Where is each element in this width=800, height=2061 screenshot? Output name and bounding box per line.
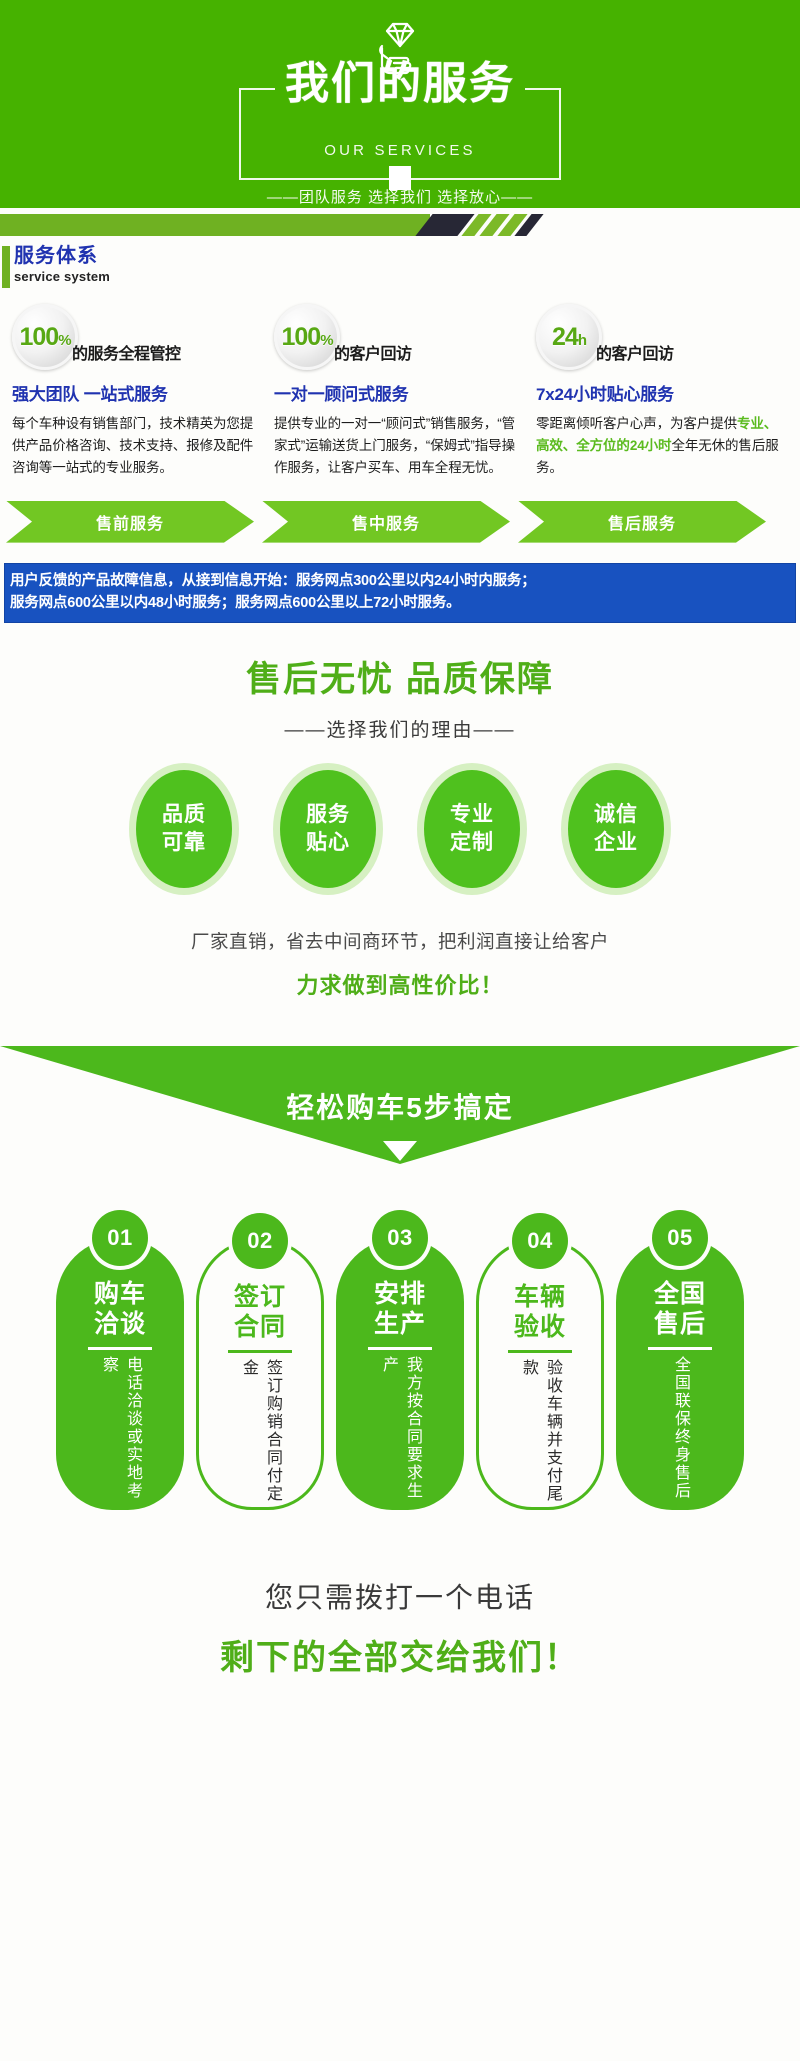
feature-badge-row: 24h 的客户回访 bbox=[536, 300, 784, 374]
badge-label: 的服务全程管控 bbox=[72, 340, 181, 374]
feature-body: 零距离倾听客户心声，为客户提供专业、高效、全方位的24小时全年无休的售后服务。 bbox=[536, 413, 784, 479]
five-steps-chevron-banner: 轻松购车5步搞定 bbox=[0, 1046, 800, 1192]
feature-badge-row: 100% 的客户回访 bbox=[274, 300, 522, 374]
section-title-en: service system bbox=[14, 269, 800, 284]
step-divider bbox=[228, 1350, 292, 1353]
footer-call-to-action: 您只需拨打一个电话 剩下的全部交给我们！ bbox=[0, 1576, 800, 1679]
oval-line-1: 品质 bbox=[162, 801, 206, 829]
arrow-chip-during-sales[interactable]: 售中服务 bbox=[262, 501, 510, 543]
footer-line-1: 您只需拨打一个电话 bbox=[0, 1576, 800, 1616]
step-number-badge: 04 bbox=[512, 1213, 568, 1269]
badge-number: 100% bbox=[281, 325, 332, 350]
oval-line-1: 诚信 bbox=[594, 801, 638, 829]
step-item-05[interactable]: 05 全国 售后 全国联保终身售后 bbox=[616, 1210, 744, 1510]
footer-line-2: 剩下的全部交给我们！ bbox=[0, 1630, 800, 1679]
step-item-01[interactable]: 01 购车 洽谈 电话洽谈或实地考察 bbox=[56, 1210, 184, 1510]
step-title: 签订 合同 bbox=[234, 1283, 286, 1342]
feature-column-2: 100% 的客户回访 一对一顾问式服务 提供专业的一对一“顾问式”销售服务，“管… bbox=[270, 300, 526, 479]
step-divider bbox=[648, 1347, 712, 1350]
section-header-service-system: 服务体系 service system bbox=[0, 236, 800, 294]
purchase-steps: 01 购车 洽谈 电话洽谈或实地考察 02 签订 合同 签订购销合同付定金 03… bbox=[0, 1210, 800, 1510]
step-title: 车辆 验收 bbox=[514, 1283, 566, 1342]
service-stage-arrows: 售前服务 售中服务 售后服务 bbox=[0, 479, 800, 543]
step-pill: 04 车辆 验收 验收车辆并支付尾款 bbox=[476, 1238, 604, 1510]
step-number-badge: 02 bbox=[232, 1213, 288, 1269]
reasons-header: 售后无忧 品质保障 ——选择我们的理由—— bbox=[0, 661, 800, 743]
step-number-badge: 03 bbox=[372, 1210, 428, 1266]
reason-oval-integrity: 诚信 企业 bbox=[568, 770, 664, 888]
divider-green-bar bbox=[0, 214, 430, 236]
oval-line-2: 贴心 bbox=[306, 829, 350, 857]
step-description: 电话洽谈或实地考察 bbox=[96, 1356, 144, 1506]
banner-line-2: 服务网点600公里以内48小时服务；服务网点600公里以上72小时服务。 bbox=[10, 592, 790, 614]
triangle-down-icon bbox=[383, 1141, 417, 1161]
feature-body: 每个车种设有销售部门，技术精英为您提供产品价格咨询、技术支持、报修及配件咨询等一… bbox=[12, 413, 260, 479]
reason-oval-quality: 品质 可靠 bbox=[136, 770, 232, 888]
service-landing-page: 我们的服务 OUR SERVICES ——团队服务 选择我们 选择放心—— 服务… bbox=[0, 0, 800, 2061]
feature-columns: 100% 的服务全程管控 强大团队 一站式服务 每个车种设有销售部门，技术精英为… bbox=[0, 294, 800, 479]
percent-badge-icon: 100% bbox=[12, 304, 78, 370]
reasons-subtitle: ——选择我们的理由—— bbox=[0, 715, 800, 742]
oval-line-2: 企业 bbox=[594, 829, 638, 857]
step-pill: 03 安排 生产 我方按合同要求生产 bbox=[336, 1238, 464, 1510]
badge-label: 的客户回访 bbox=[334, 340, 412, 374]
step-description: 我方按合同要求生产 bbox=[376, 1356, 424, 1506]
section-title-cn: 服务体系 bbox=[14, 244, 800, 268]
reason-ovals: 品质 可靠 服务 贴心 专业 定制 诚信 企业 bbox=[0, 770, 800, 888]
arrow-chip-pre-sales[interactable]: 售前服务 bbox=[6, 501, 254, 543]
badge-label: 的客户回访 bbox=[596, 340, 674, 374]
step-divider bbox=[508, 1350, 572, 1353]
oval-line-1: 服务 bbox=[306, 801, 350, 829]
feature-title: 强大团队 一站式服务 bbox=[12, 380, 260, 405]
step-item-03[interactable]: 03 安排 生产 我方按合同要求生产 bbox=[336, 1210, 464, 1510]
banner-line-1: 用户反馈的产品故障信息，从接到信息开始：服务网点300公里以内24小时内服务； bbox=[10, 570, 790, 592]
badge-number: 24h bbox=[552, 325, 586, 350]
hero-subtitle-english: OUR SERVICES bbox=[0, 142, 800, 159]
feature-column-1: 100% 的服务全程管控 强大团队 一站式服务 每个车种设有销售部门，技术精英为… bbox=[8, 300, 264, 479]
percent-badge-icon: 100% bbox=[274, 304, 340, 370]
feature-badge-row: 100% 的服务全程管控 bbox=[12, 300, 260, 374]
feature-column-3: 24h 的客户回访 7x24小时贴心服务 零距离倾听客户心声，为客户提供专业、高… bbox=[532, 300, 788, 479]
hero-title: 我们的服务 bbox=[0, 62, 800, 106]
response-time-banner: 用户反馈的产品故障信息，从接到信息开始：服务网点300公里以内24小时内服务； … bbox=[4, 563, 796, 623]
step-number-badge: 05 bbox=[652, 1210, 708, 1266]
feature-body: 提供专业的一对一“顾问式”销售服务，“管家式”运输送货上门服务，“保姆式”指导操… bbox=[274, 413, 522, 479]
arrow-chip-after-sales[interactable]: 售后服务 bbox=[518, 501, 766, 543]
step-divider bbox=[88, 1347, 152, 1350]
chevron-title: 轻松购车5步搞定 bbox=[0, 1086, 800, 1126]
hero-tagline: ——团队服务 选择我们 选择放心—— bbox=[0, 186, 800, 207]
oval-line-2: 定制 bbox=[450, 829, 494, 857]
step-description: 全国联保终身售后 bbox=[668, 1356, 692, 1506]
oval-line-2: 可靠 bbox=[162, 829, 206, 857]
step-title: 安排 生产 bbox=[374, 1280, 426, 1339]
step-title: 全国 售后 bbox=[654, 1280, 706, 1339]
step-item-02[interactable]: 02 签订 合同 签订购销合同付定金 bbox=[196, 1210, 324, 1510]
step-pill: 05 全国 售后 全国联保终身售后 bbox=[616, 1238, 744, 1510]
promo-block: 厂家直销，省去中间商环节，把利润直接让给客户 力求做到高性价比！ bbox=[0, 928, 800, 1000]
promo-line-1: 厂家直销，省去中间商环节，把利润直接让给客户 bbox=[0, 928, 800, 954]
feature-title: 一对一顾问式服务 bbox=[274, 380, 522, 405]
step-number-badge: 01 bbox=[92, 1210, 148, 1266]
step-description: 验收车辆并支付尾款 bbox=[516, 1359, 564, 1507]
section-accent-bar bbox=[2, 246, 10, 288]
badge-number: 100% bbox=[19, 325, 70, 350]
oval-line-1: 专业 bbox=[450, 801, 494, 829]
hero-banner: 我们的服务 OUR SERVICES ——团队服务 选择我们 选择放心—— bbox=[0, 0, 800, 208]
reason-oval-service: 服务 贴心 bbox=[280, 770, 376, 888]
diagonal-stripe-divider bbox=[0, 208, 800, 236]
reasons-title: 售后无忧 品质保障 bbox=[0, 661, 800, 700]
feature-title: 7x24小时贴心服务 bbox=[536, 380, 784, 405]
step-description: 签订购销合同付定金 bbox=[236, 1359, 284, 1507]
step-pill: 01 购车 洽谈 电话洽谈或实地考察 bbox=[56, 1238, 184, 1510]
step-divider bbox=[368, 1347, 432, 1350]
step-title: 购车 洽谈 bbox=[94, 1280, 146, 1339]
promo-line-2: 力求做到高性价比！ bbox=[0, 968, 800, 1000]
step-item-04[interactable]: 04 车辆 验收 验收车辆并支付尾款 bbox=[476, 1210, 604, 1510]
reason-oval-custom: 专业 定制 bbox=[424, 770, 520, 888]
step-pill: 02 签订 合同 签订购销合同付定金 bbox=[196, 1238, 324, 1510]
hours-badge-icon: 24h bbox=[536, 304, 602, 370]
